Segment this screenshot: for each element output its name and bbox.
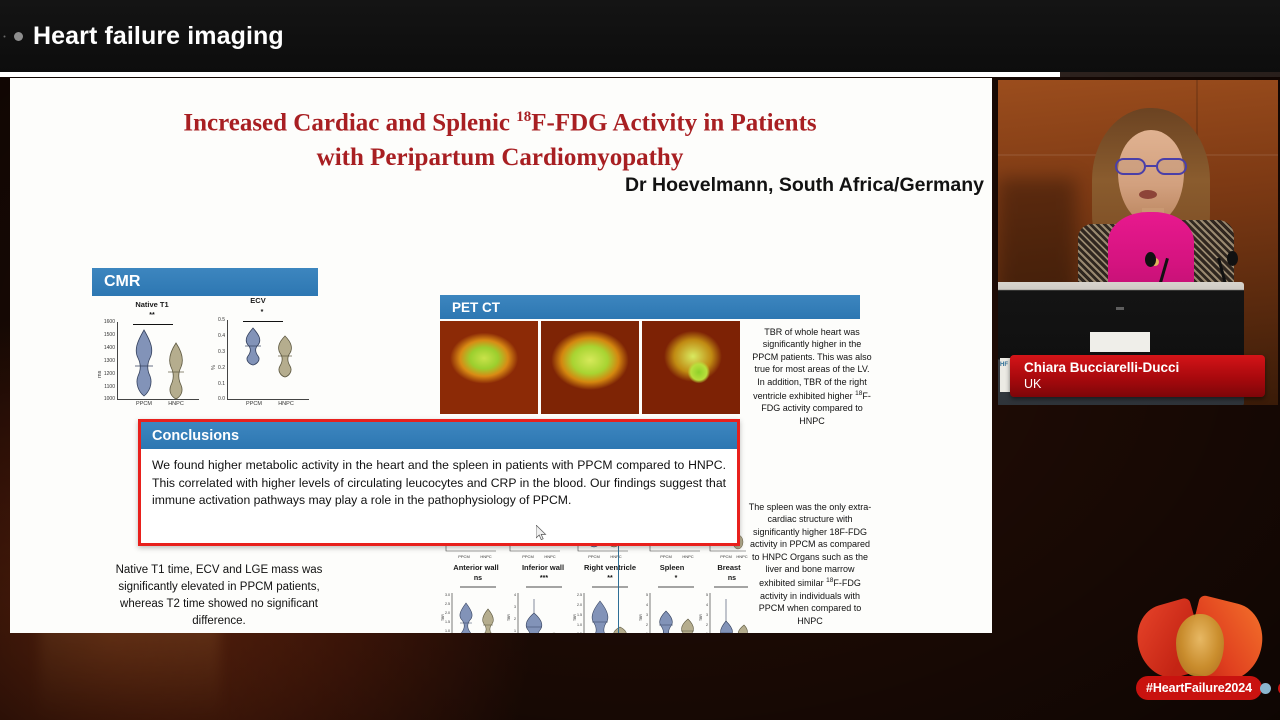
speaker-country: UK — [1024, 376, 1265, 392]
hashtag-badge: #HeartFailure2024 — [1128, 598, 1278, 720]
svg-text:4: 4 — [706, 603, 708, 607]
chart-title-inferior-wall: Inferior wall — [514, 563, 572, 572]
svg-text:TBR: TBR — [699, 614, 703, 621]
cat-native-t1-hnpc: HNPC — [161, 401, 191, 407]
svg-text:3: 3 — [706, 613, 708, 617]
section-header-pet-ct: PET CT — [440, 295, 860, 319]
slide-title-part1: Increased Cardiac and Splenic — [183, 109, 516, 136]
podium-plate — [1090, 332, 1150, 352]
pet-narrative-paragraph-1: TBR of whole heart was significantly hig… — [750, 326, 874, 427]
sig-native-t1: ** — [131, 312, 173, 319]
chart-group-divider — [618, 533, 619, 633]
slide-title-part2: F-FDG Activity in Patients — [531, 109, 816, 136]
sig-spleen: * — [656, 575, 696, 582]
svg-text:1: 1 — [514, 629, 516, 633]
sig-inferior-wall: *** — [524, 575, 564, 582]
page-title: Heart failure imaging — [33, 22, 284, 51]
svg-text:2.5: 2.5 — [577, 593, 582, 597]
pet-violin-charts: PPCMHNPC PPCMHNPC PPCMHNPC PPCMHNPC PPCM… — [438, 533, 748, 633]
slide-title-superscript: 18 — [516, 109, 531, 125]
presentation-slide[interactable]: Increased Cardiac and Splenic 18F-FDG Ac… — [10, 78, 992, 633]
svg-text:HNPC: HNPC — [682, 554, 693, 559]
svg-text:1.5: 1.5 — [445, 620, 450, 624]
svg-text:TBR: TBR — [573, 614, 577, 621]
svg-text:2.5: 2.5 — [445, 602, 450, 606]
svg-text:5: 5 — [646, 593, 648, 597]
chart-title-breast: Breast — [704, 563, 754, 572]
svg-text:TBR: TBR — [441, 614, 445, 621]
svg-text:TBR: TBR — [639, 614, 643, 621]
svg-text:PPCM: PPCM — [660, 554, 672, 559]
heart-logo-inner — [1176, 614, 1224, 676]
svg-text:5: 5 — [706, 593, 708, 597]
playback-progress-fill — [0, 72, 1060, 77]
conclusions-header: Conclusions — [141, 422, 737, 449]
chart-title-native-t1: Native T1 — [109, 300, 195, 309]
nameplate-edge-text: HF — [1000, 362, 1008, 368]
svg-text:TBR: TBR — [507, 614, 511, 621]
playback-progress-bar[interactable] — [0, 72, 1280, 77]
svg-text:1: 1 — [646, 632, 648, 633]
svg-text:3: 3 — [646, 613, 648, 617]
svg-text:2.0: 2.0 — [445, 611, 450, 615]
svg-text:HNPC: HNPC — [544, 554, 555, 559]
sig-right-ventricle: ** — [590, 575, 630, 582]
svg-text:PPCM: PPCM — [588, 554, 600, 559]
svg-text:PPCM: PPCM — [458, 554, 470, 559]
conclusions-heading-label: Conclusions — [152, 428, 239, 444]
svg-text:0.5: 0.5 — [577, 632, 582, 633]
glasses-lens-right — [1156, 158, 1187, 175]
svg-text:HNPC: HNPC — [480, 554, 491, 559]
svg-text:3: 3 — [514, 605, 516, 609]
pet-narrative-1a: TBR of whole heart was significantly hig… — [752, 327, 871, 401]
glasses-icon — [1115, 158, 1187, 175]
svg-text:2: 2 — [514, 617, 516, 621]
sig-breast: ns — [712, 575, 752, 582]
hashtag-text: #HeartFailure2024 — [1146, 681, 1252, 695]
chart-title-right-ventricle: Right ventricle — [578, 563, 642, 572]
sig-ecv: * — [241, 309, 283, 316]
section-header-cmr-label: CMR — [104, 273, 140, 291]
chart-title-spleen: Spleen — [644, 563, 700, 572]
svg-text:2.0: 2.0 — [577, 603, 582, 607]
speaker-nameplate: Chiara Bucciarelli-Ducci UK — [1010, 355, 1265, 397]
pet-narrative-paragraph-2: The spleen was the only extra-cardiac st… — [748, 501, 872, 627]
cat-ecv-ppcm: PPCM — [239, 401, 269, 407]
cmr-violin-charts: Native T1 ** ms 1600 1500 1400 1300 1200… — [95, 300, 320, 418]
slide-title-line2: with Peripartum Cardiomyopathy — [317, 144, 684, 171]
svg-text:HNPC: HNPC — [610, 554, 621, 559]
svg-text:PPCM: PPCM — [522, 554, 534, 559]
pet-ct-image-coronal — [541, 321, 639, 414]
svg-text:PPCM: PPCM — [720, 554, 732, 559]
speaker-name: Chiara Bucciarelli-Ducci — [1024, 359, 1265, 376]
pet-ct-image-axial — [642, 321, 740, 414]
svg-text:4: 4 — [514, 593, 516, 597]
podium-indicator — [1116, 307, 1124, 310]
cat-ecv-hnpc: HNPC — [271, 401, 301, 407]
speaker-mouth — [1139, 190, 1157, 199]
svg-text:4: 4 — [646, 603, 648, 607]
dot-icon — [14, 32, 23, 41]
slide-author: Dr Hoevelmann, South Africa/Germany — [364, 174, 984, 197]
glasses-bridge — [1146, 165, 1156, 167]
mouse-cursor — [536, 525, 547, 540]
pet-ct-images — [440, 321, 740, 414]
conclusions-body: We found higher metabolic activity in th… — [141, 449, 737, 510]
cmr-caption: Native T1 time, ECV and LGE mass was sig… — [98, 562, 340, 630]
svg-text:1.0: 1.0 — [577, 623, 582, 627]
svg-text:2: 2 — [706, 623, 708, 627]
cat-native-t1-ppcm: PPCM — [129, 401, 159, 407]
violin-ecv-hnpc — [271, 334, 299, 378]
violin-native-t1-ppcm — [129, 326, 159, 400]
pet-violin-main-row: 3.02.52.0 1.51.00.5 432 10 2.52.01.5 1.0… — [438, 585, 748, 633]
video-shadow — [998, 178, 1076, 298]
pet-ct-image-sagittal — [440, 321, 538, 414]
svg-text:2: 2 — [646, 623, 648, 627]
violin-ecv-ppcm — [239, 326, 267, 366]
svg-text:3.0: 3.0 — [445, 593, 450, 597]
sig-anterior-wall: ns — [458, 575, 498, 582]
chart-title-anterior-wall: Anterior wall — [446, 563, 506, 572]
glasses-lens-left — [1115, 158, 1146, 175]
slide-title: Increased Cardiac and Splenic 18F-FDG Ac… — [70, 100, 930, 175]
violin-native-t1-hnpc — [161, 340, 191, 402]
hashtag-dot-blue — [1260, 683, 1271, 694]
microphone-head-right — [1227, 251, 1238, 266]
screen: Heart failure imaging Increased Cardiac … — [0, 0, 1280, 720]
hashtag-pill: #HeartFailure2024 — [1136, 676, 1262, 700]
svg-text:HNPC: HNPC — [736, 554, 747, 559]
pet-narrative-2a: The spleen was the only extra-cardiac st… — [749, 502, 872, 588]
chart-title-ecv: ECV — [223, 296, 293, 305]
section-header-cmr: CMR — [92, 268, 318, 296]
section-header-pet-ct-label: PET CT — [452, 300, 500, 315]
svg-text:1.5: 1.5 — [577, 613, 582, 617]
microphone-head-left — [1145, 252, 1156, 267]
svg-text:1: 1 — [706, 632, 708, 633]
top-header-bar: Heart failure imaging — [0, 0, 1280, 72]
conclusions-box: Conclusions We found higher metabolic ac… — [138, 419, 740, 546]
svg-text:1.0: 1.0 — [445, 629, 450, 633]
